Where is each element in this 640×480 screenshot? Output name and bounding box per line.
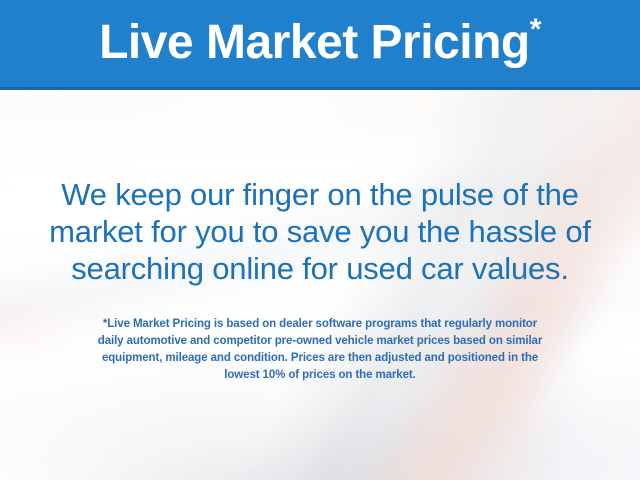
title-asterisk: * — [530, 13, 541, 46]
disclaimer-line-1: *Live Market Pricing is based on dealer … — [0, 316, 640, 333]
disclaimer-line-3: equipment, mileage and condition. Prices… — [0, 350, 640, 367]
disclaimer-block: *Live Market Pricing is based on dealer … — [0, 316, 640, 384]
headline-block: We keep our finger on the pulse of the m… — [0, 176, 640, 287]
headline-line-2: market for you to save you the hassle of — [0, 213, 640, 250]
headline-line-3: searching online for used car values. — [0, 250, 640, 287]
header-banner: Live Market Pricing* — [0, 0, 640, 90]
live-market-pricing-slide: Live Market Pricing* We keep our finger … — [0, 0, 640, 480]
page-title: Live Market Pricing* — [99, 19, 541, 67]
disclaimer-line-2: daily automotive and competitor pre-owne… — [0, 333, 640, 350]
headline-line-1: We keep our finger on the pulse of the — [0, 176, 640, 213]
disclaimer-line-4: lowest 10% of prices on the market. — [0, 367, 640, 384]
page-title-text: Live Market Pricing — [99, 16, 530, 69]
